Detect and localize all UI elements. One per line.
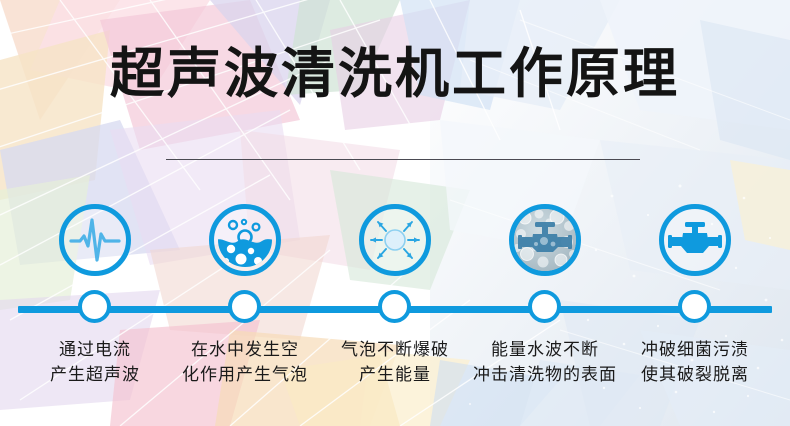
step-2-caption: 在水中发生空 化作用产生气泡 (165, 338, 325, 388)
icon-row (0, 204, 790, 280)
step-3-caption-line-2: 产生能量 (315, 363, 475, 388)
step-3-caption: 气泡不断爆破 产生能量 (315, 338, 475, 388)
step-4-caption-line-1: 能量水波不断 (465, 338, 625, 363)
water-bubbles-icon (216, 211, 274, 269)
title-divider-rule (166, 159, 640, 160)
bubble-burst-icon (366, 211, 424, 269)
clean-valve-part-icon (666, 211, 724, 269)
step-4-icon-circle[interactable] (509, 204, 581, 276)
step-1-caption: 通过电流 产生超声波 (15, 338, 175, 388)
timeline-node-4[interactable] (528, 290, 561, 323)
step-1-caption-line-1: 通过电流 (15, 338, 175, 363)
caption-row: 通过电流 产生超声波 在水中发生空 化作用产生气泡 气泡不断爆破 产生能量 能量… (0, 338, 790, 408)
step-5-caption-line-2: 使其破裂脱离 (615, 363, 775, 388)
step-4-caption-line-2: 冲击清洗物的表面 (465, 363, 625, 388)
step-3-icon-circle[interactable] (359, 204, 431, 276)
timeline-node-1[interactable] (78, 290, 111, 323)
step-5-caption: 冲破细菌污渍 使其破裂脱离 (615, 338, 775, 388)
dirty-valve-part-icon (513, 208, 577, 272)
infographic-poster: 超声波清洗机工作原理 (0, 0, 790, 426)
step-3-caption-line-1: 气泡不断爆破 (315, 338, 475, 363)
step-1-caption-line-2: 产生超声波 (15, 363, 175, 388)
process-timeline (0, 290, 790, 330)
page-title: 超声波清洗机工作原理 (0, 44, 790, 104)
step-5-caption-line-1: 冲破细菌污渍 (615, 338, 775, 363)
timeline-node-2[interactable] (228, 290, 261, 323)
pulse-waveform-icon (67, 212, 123, 268)
step-2-icon-circle[interactable] (209, 204, 281, 276)
step-5-icon-circle[interactable] (659, 204, 731, 276)
timeline-node-5[interactable] (678, 290, 711, 323)
step-1-icon-circle[interactable] (59, 204, 131, 276)
timeline-node-3[interactable] (378, 290, 411, 323)
step-2-caption-line-2: 化作用产生气泡 (165, 363, 325, 388)
step-4-caption: 能量水波不断 冲击清洗物的表面 (465, 338, 625, 388)
step-2-caption-line-1: 在水中发生空 (165, 338, 325, 363)
